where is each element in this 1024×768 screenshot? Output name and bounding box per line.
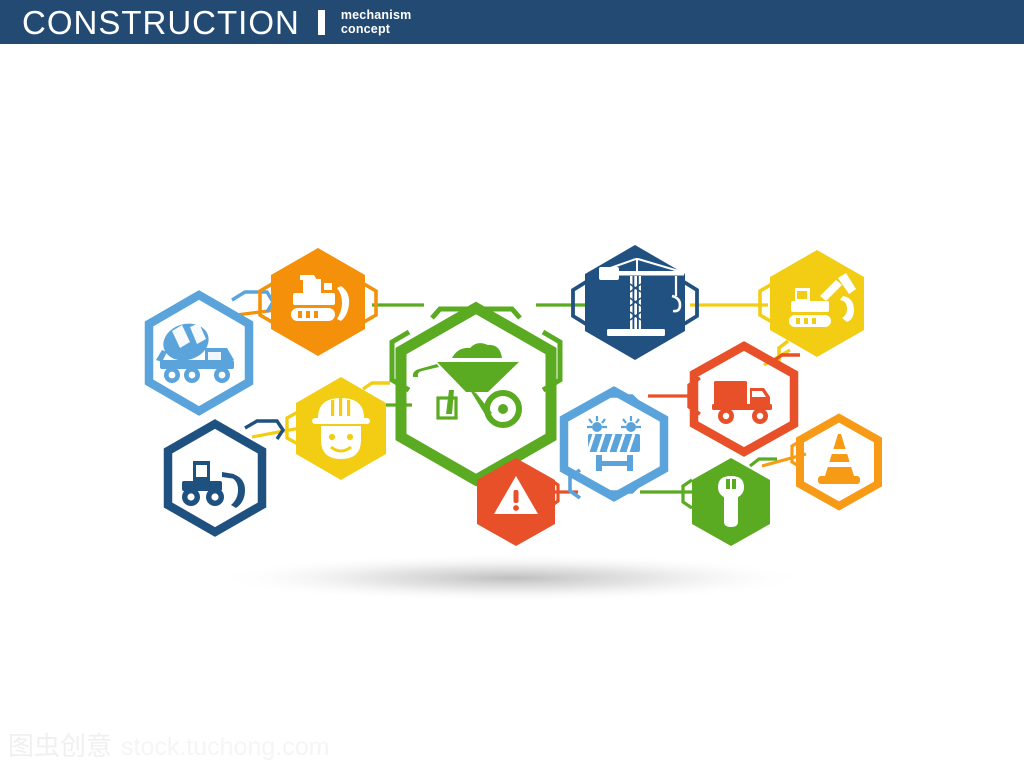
wrench-bracket-left [683, 480, 692, 508]
node-cement-mixer[interactable] [149, 292, 273, 411]
node-wrench[interactable] [683, 458, 777, 546]
worker-helmet-bracket-top [363, 383, 390, 389]
node-traffic-cone[interactable] [792, 418, 878, 506]
tower-crane-bracket-left [573, 282, 586, 324]
cement-mixer-truck-icon [156, 318, 234, 383]
node-dump-truck[interactable] [689, 346, 800, 452]
road-barrier-icon [587, 416, 641, 471]
node-front-loader[interactable] [168, 421, 283, 532]
node-worker-helmet[interactable] [287, 377, 390, 480]
link-loader-helmet [252, 428, 300, 437]
hexagon-network [0, 0, 1024, 768]
tower-crane-bracket-right [684, 282, 697, 324]
dump-truck-icon [712, 381, 772, 424]
watermark-chinese: 图虫创意 [8, 734, 112, 760]
node-wheelbarrow[interactable] [392, 308, 560, 480]
front-loader-icon [182, 461, 245, 508]
wheelbarrow-icon [413, 343, 519, 425]
bulldozer-bracket-left [260, 284, 272, 322]
watermark: 图虫创意 stock.tuchong.com [8, 734, 329, 760]
cement-mixer-bracket [232, 292, 273, 312]
drop-shadow [212, 554, 812, 602]
node-excavator[interactable] [760, 250, 864, 362]
node-road-barrier[interactable] [564, 391, 664, 498]
infographic-canvas: CONSTRUCTION mechanism concept [0, 0, 1024, 768]
watermark-site: stock.tuchong.com [121, 735, 329, 760]
node-bulldozer[interactable] [260, 248, 376, 356]
node-tower-crane[interactable] [573, 245, 697, 360]
bulldozer-bracket-right [364, 284, 376, 322]
front-loader-hexagon[interactable] [168, 424, 262, 532]
traffic-cone-icon [818, 434, 860, 484]
